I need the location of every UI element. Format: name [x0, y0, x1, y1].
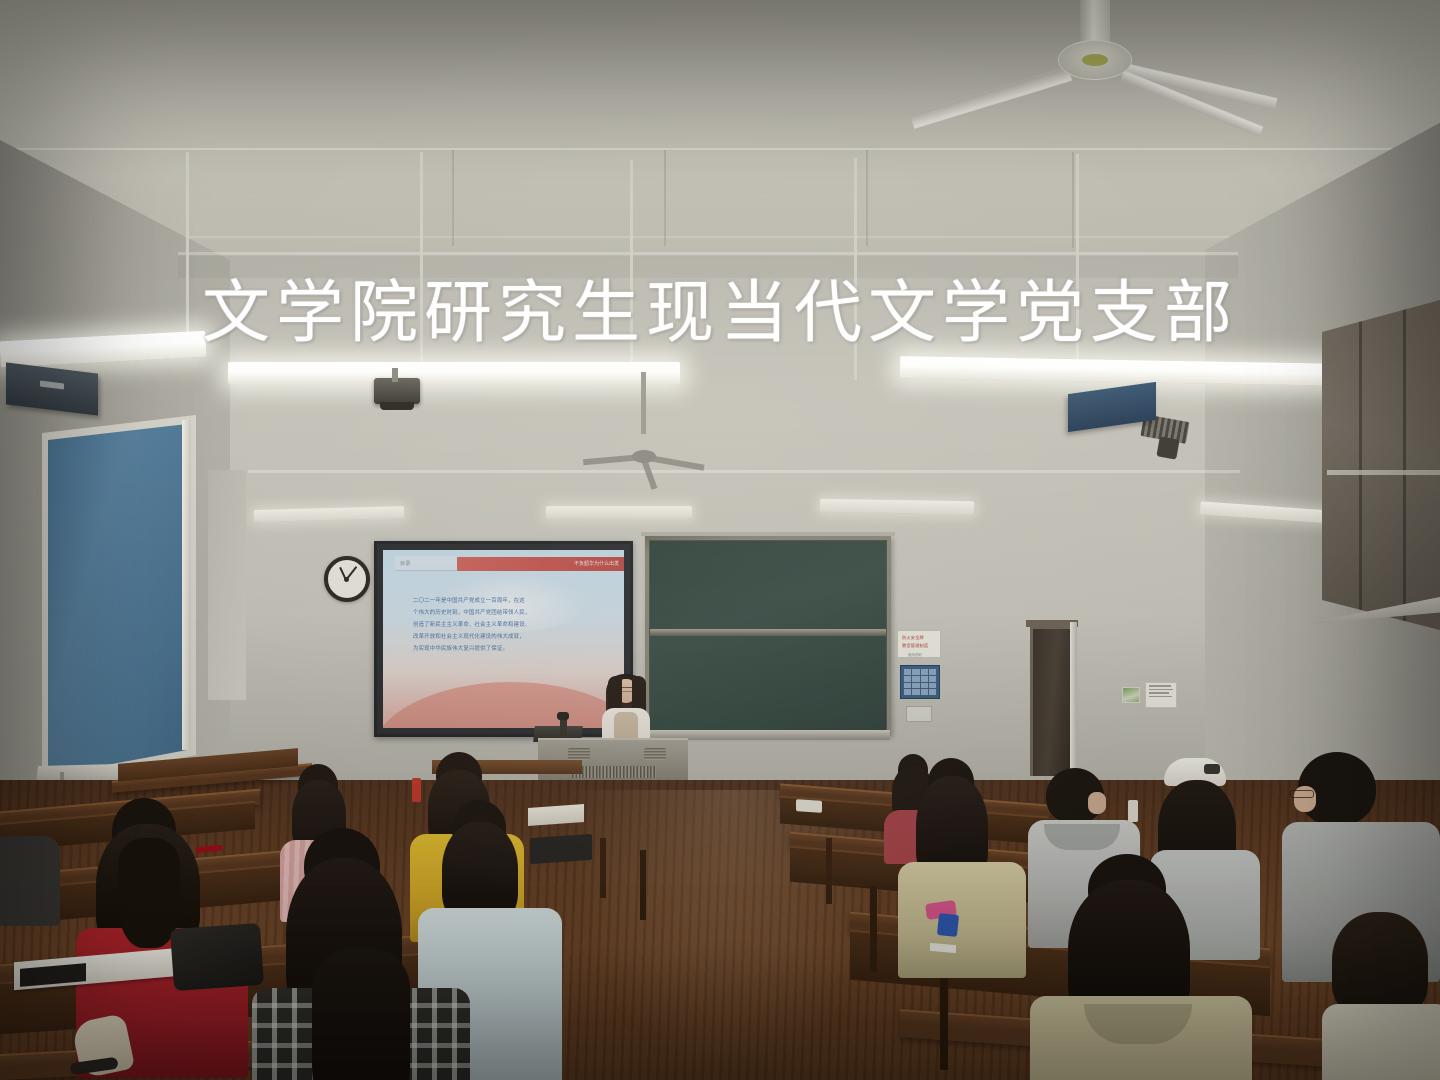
slide-body-text: 二〇二一年是中国共产党成立一百周年，在这 个伟大的历史时刻，中国共产党团结带领人…: [413, 596, 602, 656]
blackboard-rail: [650, 629, 886, 636]
desk-leg: [640, 850, 646, 920]
desk-leg: [826, 838, 832, 904]
switch-cell[interactable]: [912, 676, 919, 682]
switch-cell[interactable]: [921, 676, 928, 682]
slide-body-line: 为实现中华民族伟大复兴提供了保证。: [413, 644, 602, 654]
switch-cell[interactable]: [912, 683, 919, 689]
glasses-icon: [1290, 790, 1314, 798]
lectern-grille: [644, 748, 666, 760]
lectern-grille: [568, 748, 590, 760]
student-hair: [1332, 912, 1428, 1016]
page-title: 文学院研究生现当代文学党支部: [0, 280, 1440, 348]
switch-cell[interactable]: [929, 676, 936, 682]
fan-rod: [1080, 0, 1110, 45]
wall-trim: [248, 470, 1240, 473]
clock-center: [344, 577, 349, 582]
window-frame-edge: [182, 420, 191, 750]
speaker-label: [40, 381, 64, 390]
slide-tab: 目录: [395, 556, 457, 571]
projection-screen: 目录 不负韶华为什么出发 二〇二一年是中国共产党成立一百周年，在这 个伟大的历史…: [374, 541, 633, 737]
switch-cell[interactable]: [904, 689, 911, 695]
projector-mount: [392, 368, 398, 382]
switch-cell[interactable]: [912, 689, 919, 695]
ceiling-fan-icon: [930, 0, 1260, 150]
poster-text-line: [1149, 689, 1173, 691]
microphone-head: [557, 712, 569, 720]
student-torso: [1322, 1004, 1440, 1080]
power-outlet[interactable]: [906, 706, 932, 722]
slide-hill-graphic: [383, 682, 624, 728]
notice-line: 教室管理制度: [898, 641, 940, 649]
classroom-door[interactable]: [1030, 626, 1074, 776]
classroom-photo: 目录 不负韶华为什么出发 二〇二一年是中国共产党成立一百周年，在这 个伟大的历史…: [0, 0, 1440, 1080]
fan-hub-sticker: [1082, 54, 1108, 66]
lectern-vents: [572, 766, 656, 778]
fan-blade: [910, 66, 1072, 129]
ceiling-fan-icon: [585, 430, 705, 484]
slide-header-bar: 不负韶华为什么出发: [457, 557, 624, 571]
light-switch-panel[interactable]: [900, 665, 940, 699]
student-torso: [0, 836, 60, 926]
water-bottle: [412, 778, 421, 802]
text-notice-poster: [1145, 682, 1177, 708]
projector-icon: [1156, 436, 1179, 459]
notice-line: 使用说明: [898, 649, 940, 657]
ceiling-panel-line: [452, 150, 454, 246]
switch-cell[interactable]: [929, 669, 936, 675]
fluorescent-light: [228, 362, 680, 384]
presenter-at-podium: [598, 668, 654, 746]
fluorescent-light: [546, 506, 692, 518]
cap-logo: [1204, 764, 1220, 774]
switch-cell[interactable]: [904, 669, 911, 675]
ceiling-panel-line: [866, 150, 868, 246]
student-torso: [898, 862, 1026, 978]
poster-text-line: [1149, 692, 1169, 694]
wall-notice-sign: 防火安全牌 教室管理制度 使用说明: [897, 630, 941, 658]
wall-pillar: [208, 470, 246, 700]
poster-text-line: [1149, 696, 1172, 698]
student-face: [1088, 792, 1106, 814]
notice-line: 防火安全牌: [898, 631, 940, 641]
water-bottle: [1128, 800, 1138, 822]
slide-header-text: 不负韶华为什么出发: [574, 560, 619, 567]
switch-cell[interactable]: [921, 683, 928, 689]
desk-leg: [600, 838, 606, 898]
switch-cell[interactable]: [921, 669, 928, 675]
presentation-slide: 目录 不负韶华为什么出发 二〇二一年是中国共产党成立一百周年，在这 个伟大的历史…: [383, 550, 624, 728]
fluorescent-light: [820, 499, 974, 515]
switch-cell[interactable]: [904, 683, 911, 689]
window-mullion: [1403, 308, 1406, 626]
slide-body-line: 创造了新民主主义革命、社会主义革命和建设、: [413, 620, 602, 630]
slide-body-line: 二〇二一年是中国共产党成立一百周年，在这: [413, 596, 602, 606]
door-jamb: [1070, 622, 1077, 782]
ceiling-seam: [0, 236, 1440, 238]
switch-cell[interactable]: [904, 676, 911, 682]
slide-body-line: 改革开放和社会主义现代化建设的伟大成就，: [413, 632, 602, 642]
student-hair: [312, 948, 410, 1080]
blue-roller-blind[interactable]: [44, 424, 187, 776]
ceiling-panel-line: [1072, 152, 1074, 248]
fan-hub: [632, 450, 656, 463]
blackboard: [645, 536, 891, 736]
green-photo-poster: [1122, 687, 1140, 703]
wall-trim: [178, 252, 1238, 255]
switch-cell[interactable]: [929, 689, 936, 695]
switch-cell[interactable]: [921, 689, 928, 695]
pen: [937, 913, 959, 937]
slide-tab-text: 目录: [395, 556, 457, 567]
fan-rod: [641, 372, 646, 434]
blackboard-surface: [649, 540, 887, 732]
wall-clock: [324, 556, 370, 602]
paper-sheet: [796, 799, 822, 813]
slide-body-line: 个伟大的历史时刻，中国共产党团结带领人民，: [413, 608, 602, 618]
projector-lens: [380, 402, 414, 410]
poster-text-line: [1149, 685, 1171, 687]
hoodie-hood: [1044, 824, 1120, 850]
backpack: [170, 923, 264, 991]
laptop: [530, 834, 592, 864]
desk-leg: [870, 886, 877, 972]
window-rail: [1327, 470, 1440, 475]
blackboard-top-trim: [641, 532, 895, 536]
ceiling-panel-line: [664, 150, 666, 246]
floor-reflection: [560, 790, 900, 1080]
switch-cell[interactable]: [912, 669, 919, 675]
switch-cell[interactable]: [929, 683, 936, 689]
